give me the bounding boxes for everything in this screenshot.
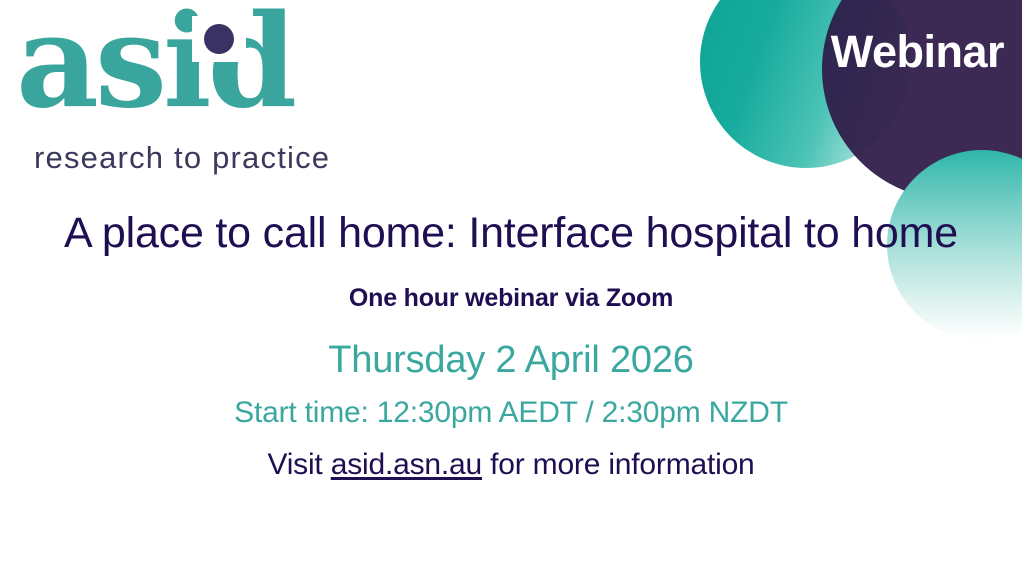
webinar-date: Thursday 2 April 2026 (0, 339, 1022, 383)
webinar-promo-slide: Webinar asid research to practice A plac… (0, 0, 1022, 582)
content-block: A place to call home: Interface hospital… (0, 206, 1022, 483)
visit-prefix-text: Visit (267, 448, 330, 481)
logo-wordmark: asid (16, 12, 336, 137)
page-title: A place to call home: Interface hospital… (61, 206, 961, 262)
logo-tagline: research to practice (34, 142, 330, 173)
logo-dot-icon (204, 24, 234, 54)
webinar-start-time: Start time: 12:30pm AEDT / 2:30pm NZDT (0, 396, 1022, 431)
webinar-badge: Webinar (831, 29, 1004, 74)
logo-word-text: asid (16, 0, 293, 126)
asid-website-link[interactable]: asid.asn.au (331, 448, 482, 481)
webinar-format-subtitle: One hour webinar via Zoom (0, 283, 1022, 313)
asid-logo: asid research to practice (16, 12, 336, 137)
visit-information-line: Visit asid.asn.au for more information (0, 448, 1022, 483)
visit-suffix-text: for more information (482, 448, 755, 481)
